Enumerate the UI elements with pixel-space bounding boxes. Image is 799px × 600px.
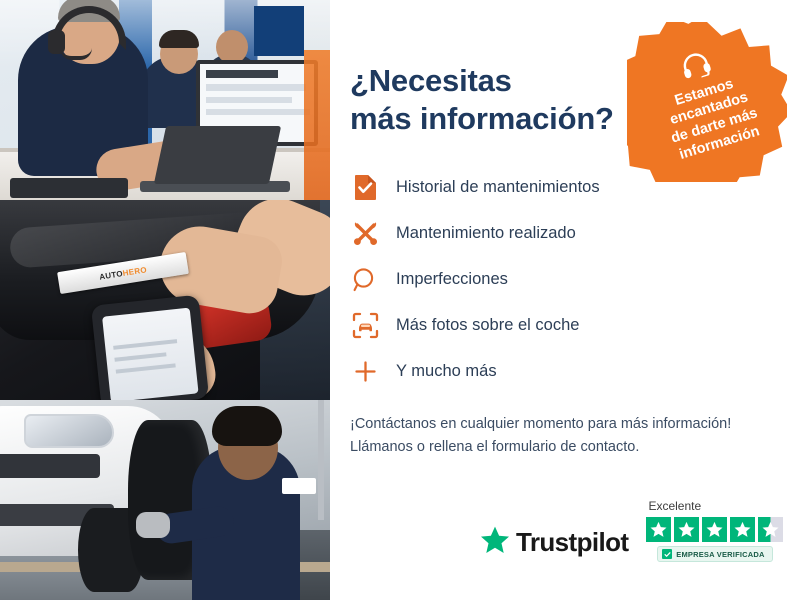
badge-content: Estamos encantados de darte más informac… — [607, 2, 799, 202]
feature-list: Historial de mantenimientos M — [350, 169, 769, 391]
car-camera-frame-icon — [350, 311, 380, 341]
monitor-line — [206, 97, 292, 103]
inspection-tablet — [91, 295, 209, 400]
trustpilot-rating[interactable]: Trustpilot Excelente — [480, 499, 783, 562]
badge-text: Estamos encantados de darte más informac… — [639, 65, 786, 171]
magnifier-icon — [350, 265, 380, 295]
background-head-three — [216, 30, 248, 64]
content-panel: ¿Necesitas más información? Historial de… — [330, 0, 799, 600]
car-headlight — [24, 414, 114, 448]
contact-text: ¡Contáctanos en cualquier momento para m… — [350, 413, 769, 460]
verified-label: EMPRESA VERIFICADA — [676, 550, 764, 559]
workshop-pipe — [318, 400, 324, 520]
crossed-tools-icon — [350, 219, 380, 249]
list-item-label: Mantenimiento realizado — [396, 224, 576, 243]
star-filled — [646, 517, 671, 542]
checklist-document-icon — [350, 173, 380, 203]
call-center-agent-photo — [0, 0, 330, 200]
tablet-screen — [102, 308, 199, 400]
contact-line-2: Llámanos o rellena el formulario de cont… — [350, 436, 769, 459]
star-rating — [646, 517, 783, 542]
technician-hair — [212, 406, 282, 446]
list-item: Más fotos sobre el coche — [350, 307, 769, 345]
star-half — [758, 517, 783, 542]
list-item-label: Imperfecciones — [396, 270, 508, 289]
list-item: Y mucho más — [350, 353, 769, 391]
trustpilot-wordmark: Trustpilot — [516, 527, 628, 558]
monitor-line — [206, 84, 306, 91]
list-item: Mantenimiento realizado — [350, 215, 769, 253]
tablet-line — [116, 363, 176, 373]
contact-line-1: ¡Contáctanos en cualquier momento para m… — [350, 413, 769, 436]
rating-label: Excelente — [648, 499, 701, 513]
desk-tablet — [10, 178, 128, 198]
list-item-label: Más fotos sobre el coche — [396, 316, 579, 335]
star-filled — [730, 517, 755, 542]
promo-card: AUTOHERO — [0, 0, 799, 600]
plus-icon — [350, 357, 380, 387]
car-grille-upper — [0, 454, 100, 478]
trustpilot-score-block: Excelente — [646, 499, 783, 562]
page-title: ¿Necesitas más información? — [350, 62, 660, 139]
car-inspection-photo: AUTOHERO — [0, 200, 330, 400]
tablet-line — [113, 339, 177, 350]
star-filled — [702, 517, 727, 542]
ruler-brand: AUTOHERO — [99, 265, 148, 281]
trustpilot-star-icon — [480, 525, 510, 560]
monitor-line — [206, 70, 278, 78]
list-item-label: Historial de mantenimientos — [396, 178, 600, 197]
photo-column: AUTOHERO — [0, 0, 330, 600]
headline-line-1: ¿Necesitas — [350, 63, 512, 98]
monitor-line — [206, 109, 310, 115]
orange-signage — [304, 50, 330, 200]
status-badge: EMPRESA VERIFICADA — [657, 546, 772, 562]
status-badge: Estamos encantados de darte más informac… — [627, 22, 787, 182]
laptop-screen — [154, 126, 281, 184]
technician-badge — [282, 478, 316, 494]
headline-line-2: más información? — [350, 100, 660, 138]
star-filled — [674, 517, 699, 542]
verified-check-icon — [662, 549, 672, 559]
trustpilot-logo[interactable]: Trustpilot — [480, 525, 628, 562]
background-hair-two — [159, 30, 199, 48]
wall-poster — [254, 6, 304, 56]
tablet-line — [114, 352, 166, 361]
list-item: Imperfecciones — [350, 261, 769, 299]
technician-glove — [136, 512, 170, 538]
list-item-label: Y mucho más — [396, 362, 497, 381]
wheel-check-photo — [0, 400, 330, 600]
